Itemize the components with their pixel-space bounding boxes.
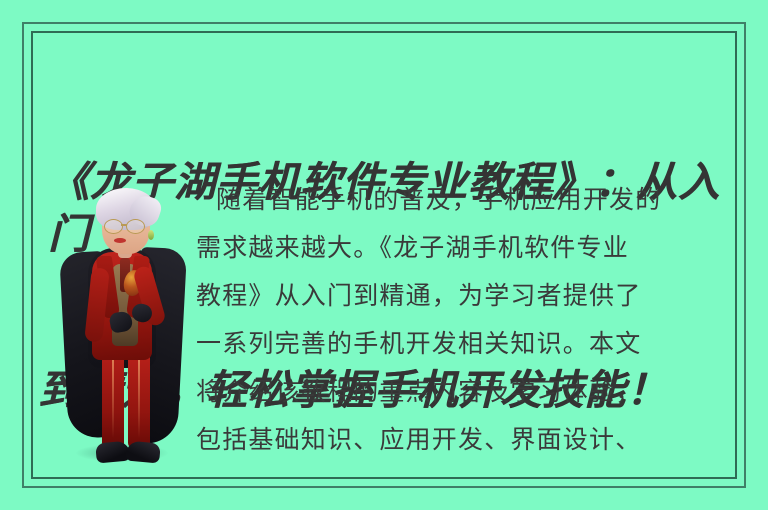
body-line-5: 将介绍该教程的重点内容及学习体验， [196,368,724,416]
body-line-4: 一系列完善的手机开发相关知识。本文 [196,320,724,368]
figure-trouser-crease-right [138,352,140,438]
figure-earring [148,230,154,240]
body-paragraph: 随着智能手机的普及，手机应用开发的 需求越来越大。《龙子湖手机软件专业 教程》从… [196,176,724,464]
figure-eyeglass-right [126,219,145,234]
character-illustration [58,186,186,478]
figure-lips [114,238,126,243]
figure-eyeglass-bridge [121,224,127,226]
figure-trouser-crease-left [112,352,114,438]
figure-eyeglass-left [104,219,123,234]
body-line-6: 包括基础知识、应用开发、界面设计、 [196,416,724,464]
body-line-2: 需求越来越大。《龙子湖手机软件专业 [196,224,724,272]
figure-shoe-right [125,441,161,464]
body-line-3: 教程》从入门到精通，为学习者提供了 [196,272,724,320]
body-line-1: 随着智能手机的普及，手机应用开发的 [196,176,724,224]
promo-banner: 《龙子湖手机软件专业教程》：从入门 到精通，轻松掌握手机开发技能！ 随着智能手机… [0,0,768,510]
